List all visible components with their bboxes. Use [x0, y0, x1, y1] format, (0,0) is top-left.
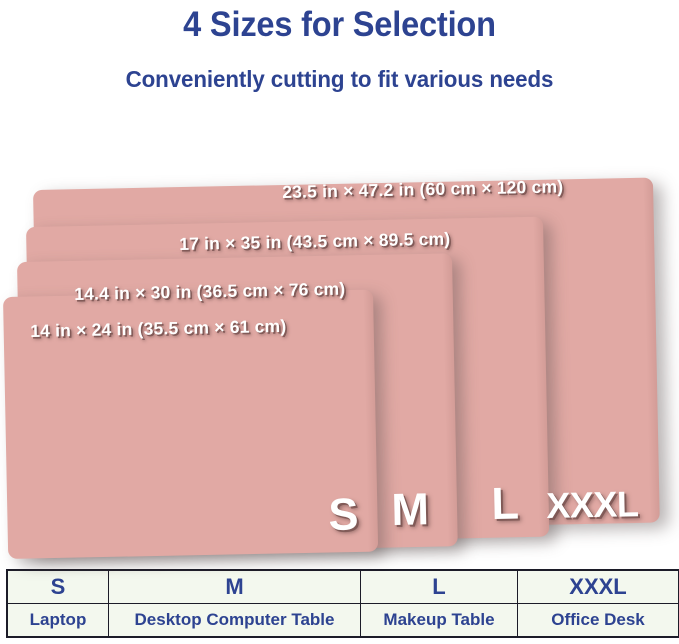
- size-letter-l: L: [491, 480, 519, 526]
- table-cell-code-l: L: [361, 570, 518, 604]
- table-row-size-codes: S M L XXXL: [7, 570, 679, 604]
- table-cell-use-l: Makeup Table: [361, 604, 518, 638]
- mat-size-illustration: 23.5 in × 47.2 in (60 cm × 120 cm) 17 in…: [0, 0, 679, 575]
- table-cell-use-s: Laptop: [7, 604, 109, 638]
- table-row-uses: Laptop Desktop Computer Table Makeup Tab…: [7, 604, 679, 638]
- table-cell-code-s: S: [7, 570, 109, 604]
- size-letter-m: M: [391, 486, 429, 532]
- table-cell-use-xxxl: Office Desk: [518, 604, 679, 638]
- table-cell-code-xxxl: XXXL: [518, 570, 679, 604]
- size-use-table: S M L XXXL Laptop Desktop Computer Table…: [6, 569, 679, 638]
- size-letter-xxxl: XXXL: [546, 486, 639, 524]
- size-letter-s: S: [328, 491, 359, 537]
- table-cell-use-m: Desktop Computer Table: [109, 604, 361, 638]
- table-cell-code-m: M: [109, 570, 361, 604]
